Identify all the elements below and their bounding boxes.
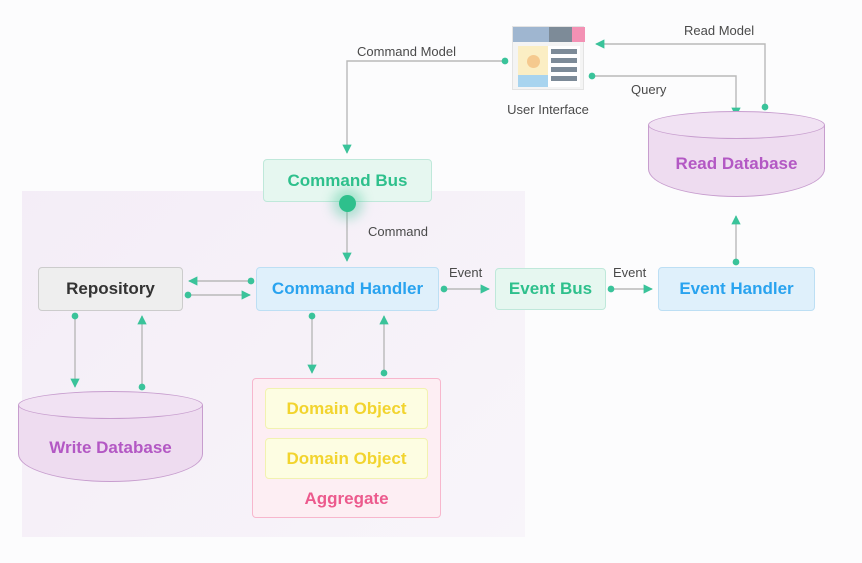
browser-content bbox=[518, 46, 580, 87]
node-domain-object-label: Domain Object bbox=[287, 399, 407, 419]
user-interface-label: User Interface bbox=[486, 102, 610, 117]
titlebar-segment-pink bbox=[572, 27, 585, 42]
edge-label-query: Query bbox=[631, 82, 666, 97]
diagram-canvas: User Interface Command Bus Command Handl… bbox=[0, 0, 862, 563]
image-placeholder-icon bbox=[518, 46, 548, 87]
text-line bbox=[551, 58, 577, 63]
node-repository-label: Repository bbox=[66, 279, 155, 299]
browser-titlebar bbox=[513, 27, 585, 42]
node-domain-object-label: Domain Object bbox=[287, 449, 407, 469]
node-write-database-label: Write Database bbox=[18, 438, 203, 458]
command-bus-glow-indicator bbox=[339, 195, 356, 212]
node-event-bus[interactable]: Event Bus bbox=[495, 268, 606, 310]
text-line bbox=[551, 67, 577, 72]
browser-window-icon bbox=[512, 26, 584, 90]
edge-label-event-2: Event bbox=[613, 265, 646, 280]
node-event-handler[interactable]: Event Handler bbox=[658, 267, 815, 311]
edge-label-read-model: Read Model bbox=[684, 23, 754, 38]
node-event-handler-label: Event Handler bbox=[679, 279, 793, 299]
node-read-database[interactable]: Read Database bbox=[648, 111, 825, 210]
node-read-database-label: Read Database bbox=[648, 154, 825, 174]
sun-icon bbox=[527, 55, 540, 68]
node-domain-object[interactable]: Domain Object bbox=[265, 388, 428, 429]
node-aggregate-label: Aggregate bbox=[304, 489, 388, 509]
user-interface-icon[interactable] bbox=[512, 26, 584, 90]
titlebar-segment-blue bbox=[513, 27, 549, 42]
node-event-bus-label: Event Bus bbox=[509, 279, 592, 299]
node-domain-object[interactable]: Domain Object bbox=[265, 438, 428, 479]
node-command-handler-label: Command Handler bbox=[272, 279, 423, 299]
node-repository[interactable]: Repository bbox=[38, 267, 183, 311]
edge-label-event-1: Event bbox=[449, 265, 482, 280]
node-aggregate[interactable]: Domain Object Domain Object Aggregate bbox=[252, 378, 441, 518]
node-command-bus-label: Command Bus bbox=[288, 171, 408, 191]
water-shape bbox=[518, 75, 548, 87]
edge-label-command-model: Command Model bbox=[357, 44, 456, 59]
cylinder-top bbox=[18, 391, 203, 419]
node-write-database[interactable]: Write Database bbox=[18, 391, 203, 496]
edge-label-command: Command bbox=[368, 224, 428, 239]
text-line bbox=[551, 76, 577, 81]
text-line bbox=[551, 49, 577, 54]
cylinder-top bbox=[648, 111, 825, 139]
titlebar-segment-grey bbox=[549, 27, 572, 42]
node-command-handler[interactable]: Command Handler bbox=[256, 267, 439, 311]
text-lines-placeholder bbox=[548, 46, 580, 87]
